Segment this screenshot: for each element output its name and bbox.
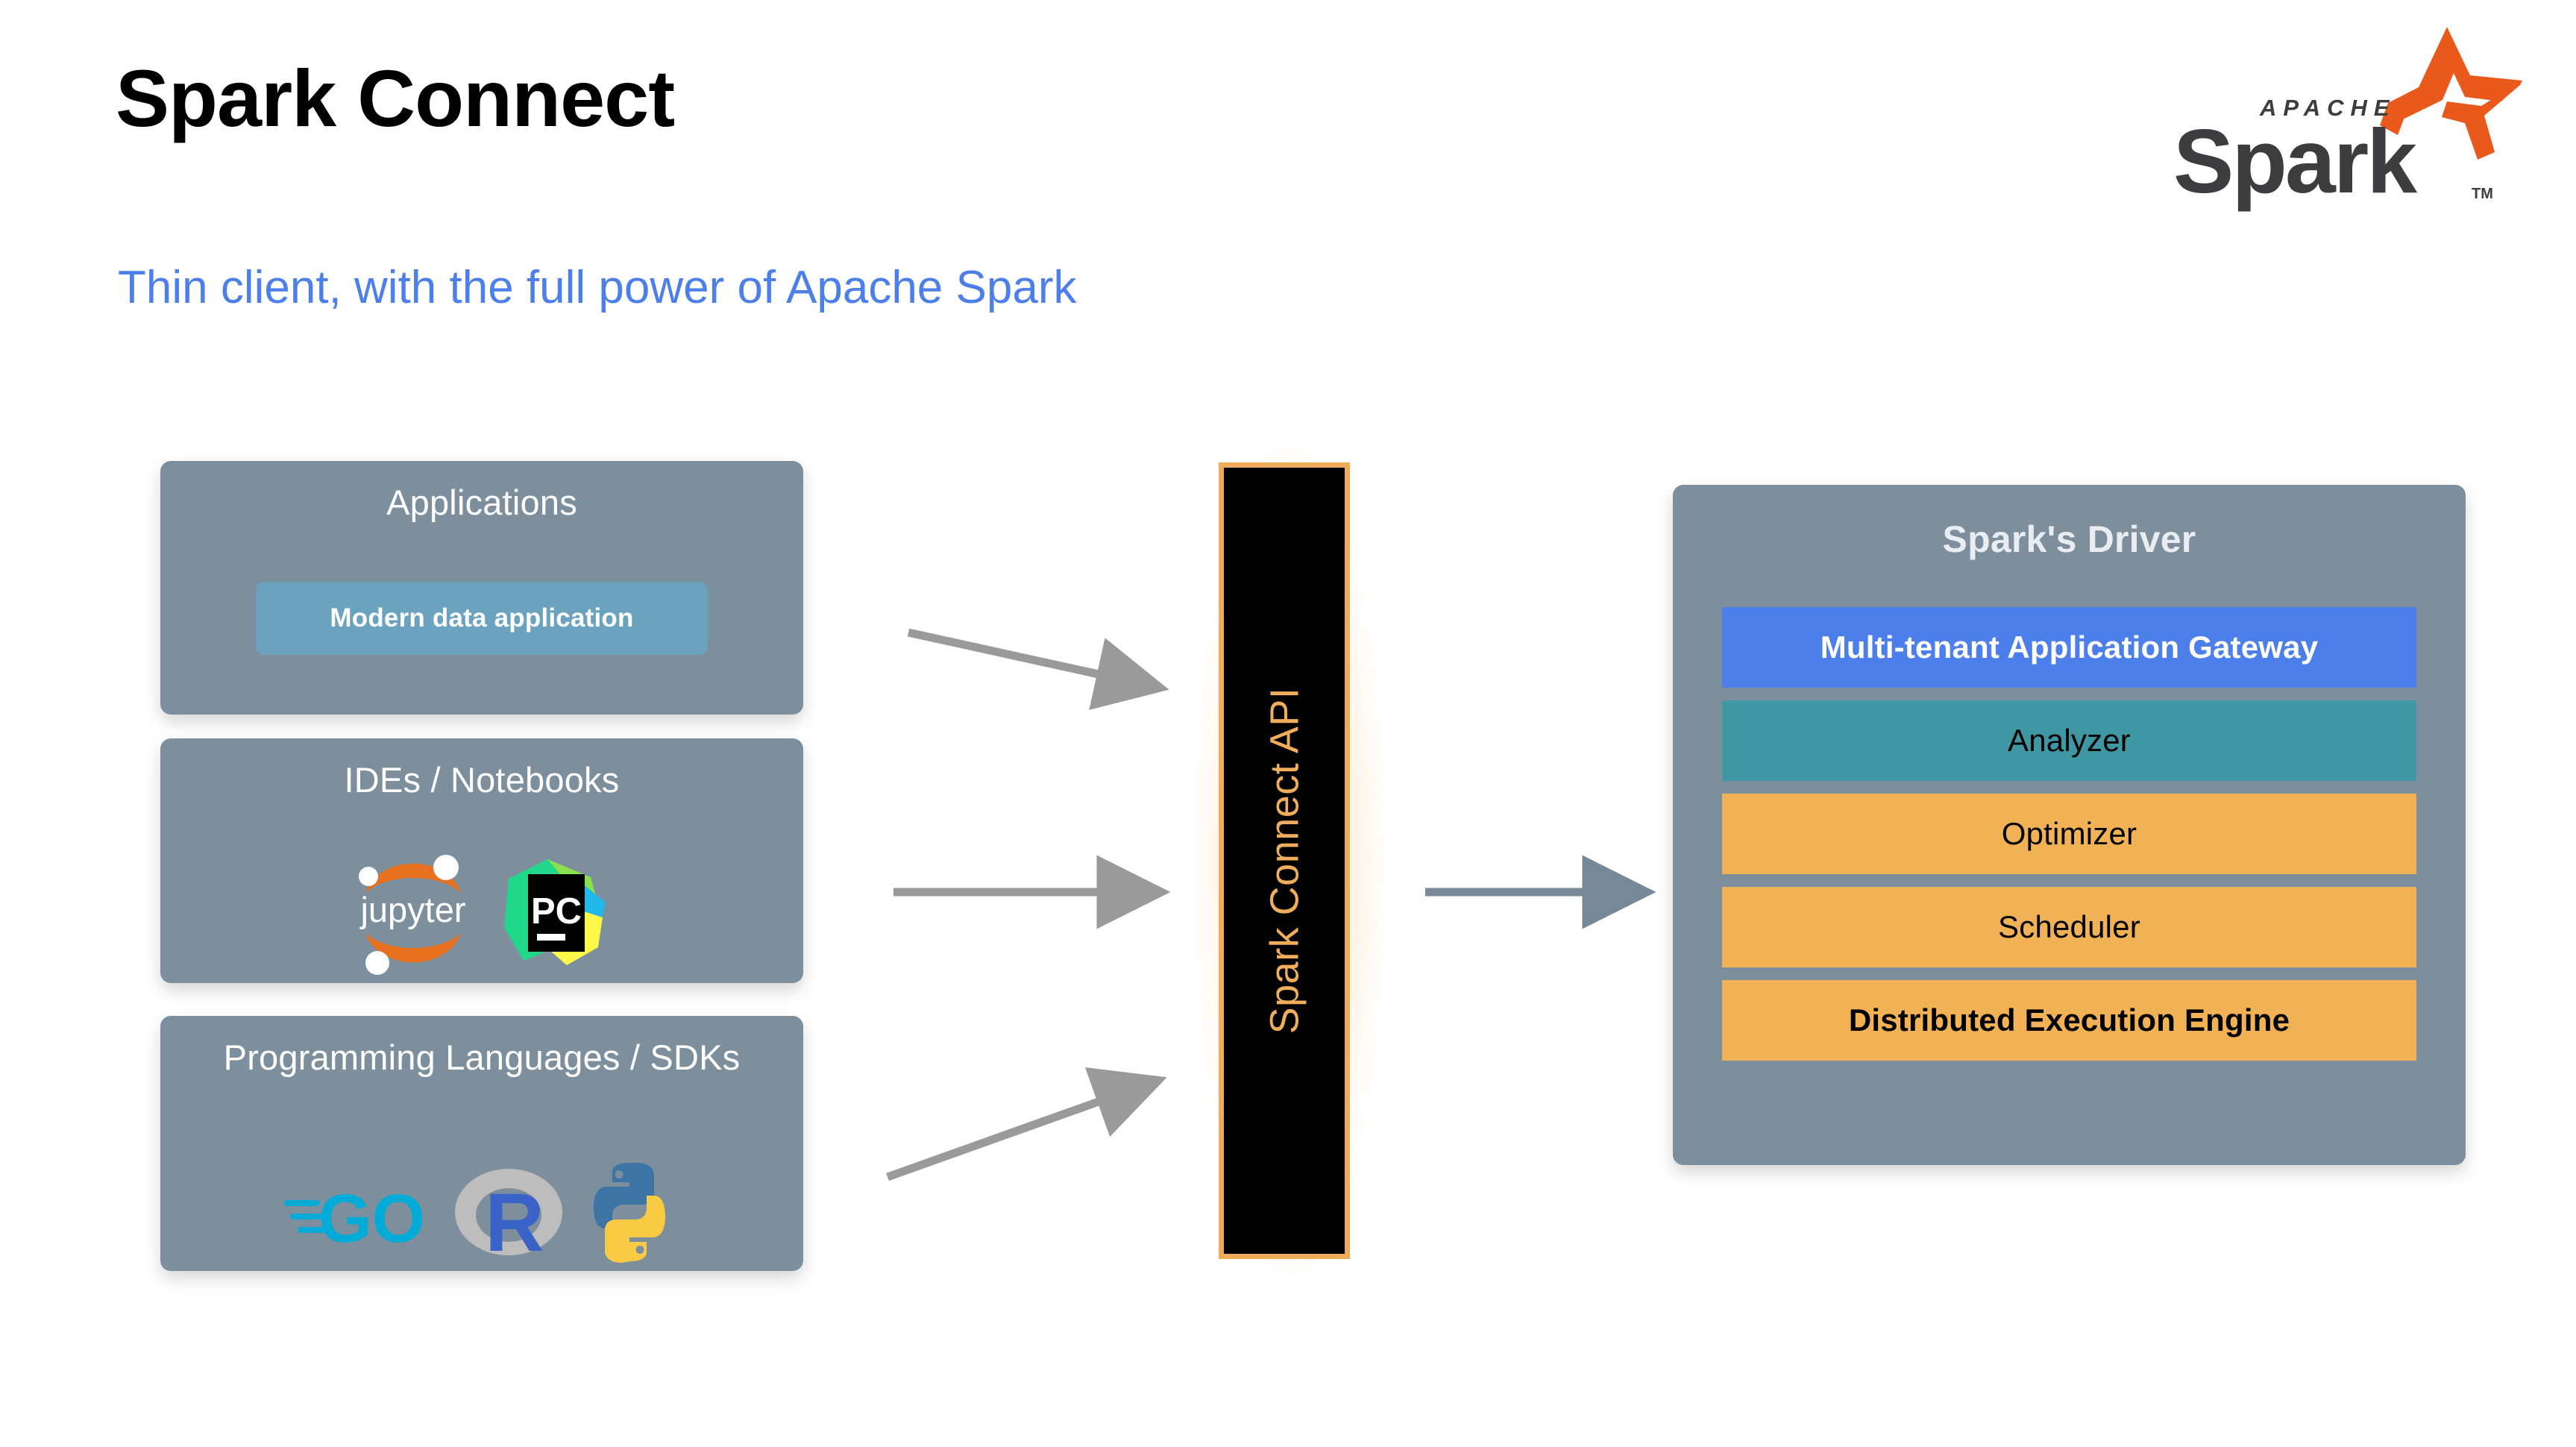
jupyter-wordmark: jupyter [359, 890, 465, 929]
python-logo [577, 1160, 682, 1264]
page-title: Spark Connect [116, 56, 674, 140]
driver-row[interactable]: Analyzer [1722, 700, 2416, 781]
driver-row[interactable]: Multi-tenant Application Gateway [1722, 607, 2416, 688]
driver-row[interactable]: Distributed Execution Engine [1722, 980, 2416, 1061]
card-languages-title: Programming Languages / SDKs [160, 1037, 803, 1078]
language-logo-row: GO R [160, 1156, 803, 1268]
arrow-applications-to-api [908, 633, 1109, 677]
driver-row-label: Analyzer [2008, 723, 2131, 759]
driver-row-label: Scheduler [1998, 909, 2140, 945]
driver-row-list: Multi-tenant Application GatewayAnalyzer… [1722, 607, 2416, 1061]
spark-connect-api-bar[interactable]: Spark Connect API [1219, 462, 1350, 1259]
go-wordmark: GO [318, 1181, 425, 1257]
card-sparks-driver[interactable]: Spark's Driver Multi-tenant Application … [1673, 485, 2466, 1165]
logo-trademark: TM [2472, 186, 2493, 202]
modern-data-application-box[interactable]: Modern data application [256, 582, 708, 655]
pycharm-logo: PC [501, 856, 613, 968]
r-logo: R [450, 1160, 570, 1264]
card-programming-languages[interactable]: Programming Languages / SDKs GO R [160, 1016, 803, 1271]
logo-spark-text: Spark [2173, 110, 2417, 212]
apache-spark-logo: APACHE Spark TM [2149, 13, 2522, 215]
driver-row-label: Multi-tenant Application Gateway [1821, 630, 2319, 665]
sparks-driver-title: Spark's Driver [1673, 518, 2466, 562]
card-ides-notebooks[interactable]: IDEs / Notebooks jupyter [160, 738, 803, 983]
slide-root: Spark Connect Thin client, with the full… [0, 0, 2576, 1447]
ide-logo-row: jupyter PC [160, 849, 803, 976]
card-applications-title: Applications [160, 482, 803, 523]
spark-connect-api-label: Spark Connect API [1261, 688, 1307, 1035]
driver-row[interactable]: Optimizer [1722, 794, 2416, 874]
arrow-languages-to-api [888, 1098, 1109, 1177]
card-applications[interactable]: Applications Modern data application [160, 461, 803, 715]
pycharm-wordmark: PC [531, 891, 582, 932]
r-wordmark: R [485, 1177, 544, 1264]
driver-row-label: Distributed Execution Engine [1849, 1002, 2290, 1038]
card-ides-title: IDEs / Notebooks [160, 759, 803, 800]
page-subtitle: Thin client, with the full power of Apac… [118, 263, 1076, 313]
driver-row[interactable]: Scheduler [1722, 887, 2416, 967]
go-logo: GO [283, 1167, 443, 1257]
driver-row-label: Optimizer [2002, 816, 2137, 852]
jupyter-logo: jupyter [351, 850, 476, 975]
